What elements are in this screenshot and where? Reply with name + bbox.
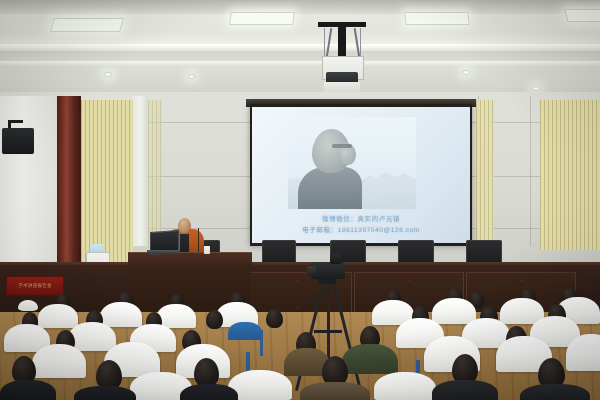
projection-screen: 微博微信：真实的卢元镇 电子邮箱：18611397040@126.com [252, 107, 470, 243]
chair-back-cover [374, 372, 436, 400]
chair-frame-leg [260, 330, 263, 356]
audience-shoulders [300, 382, 370, 400]
event-banner-text: 学术讲座报告会 [18, 283, 52, 289]
camera-lens-icon [307, 266, 316, 276]
downlight-far-right [532, 86, 540, 91]
panel-light-1 [50, 18, 124, 32]
audience-head [266, 309, 283, 328]
tripod-spreader [314, 330, 342, 333]
lecture-hall-photo: 微博微信：真实的卢元镇 电子邮箱：18611397040@126.com 学术讲… [0, 0, 600, 400]
chair-back-cover [32, 344, 86, 378]
slide-text-line-2: 电子邮箱：18611397040@126.com [252, 224, 470, 234]
curtain-right [540, 100, 600, 250]
wall-pier-mid-left [132, 96, 148, 246]
wall-seam-v3 [530, 96, 531, 246]
audience-shoulders [228, 322, 262, 340]
audience-head [194, 358, 219, 387]
video-camera [311, 262, 345, 279]
event-banner: 学术讲座报告会 [6, 276, 64, 296]
projector-lift [318, 22, 366, 94]
curtain-left [81, 100, 133, 265]
cove-light-strip [0, 44, 600, 51]
glasses-icon [332, 144, 352, 148]
curtain-right-inner [476, 100, 494, 250]
slide-text-line-1: 微博微信：真实的卢元镇 [252, 213, 470, 223]
laptop-base [147, 250, 180, 254]
panel-light-4 [564, 9, 600, 22]
downlight-left [104, 72, 112, 77]
audience-cap [18, 300, 38, 311]
projector-chain-left [324, 28, 325, 58]
slide-photograph [288, 117, 416, 209]
panel-light-2 [229, 12, 295, 25]
chair-back-cover [38, 304, 78, 328]
curtain-left-far [148, 100, 162, 248]
cup-icon [204, 246, 210, 254]
projector-lift-arm-left [326, 28, 333, 58]
projector-lift-column [338, 26, 346, 58]
loudspeaker-icon [2, 128, 34, 154]
presenter-head [178, 218, 191, 233]
ceiling-shadow [0, 0, 600, 14]
audience-shoulders [432, 380, 498, 400]
audience-shoulders [520, 384, 590, 400]
wood-column-left [57, 96, 81, 268]
ceiling-band-lower [0, 66, 600, 92]
audience-shoulders [180, 384, 238, 400]
microphone-stand [198, 228, 199, 252]
audience-shoulders [0, 380, 56, 400]
panel-light-3 [404, 12, 469, 25]
downlight-right [462, 70, 470, 75]
chair-back-cover [100, 302, 142, 327]
audience-shoulders [74, 386, 136, 400]
slide-photo-torso [298, 167, 362, 209]
camera-viewfinder [330, 254, 341, 264]
audience-head [206, 310, 223, 329]
audience-shoulders [342, 344, 398, 374]
projector-chain-right [360, 28, 361, 58]
chair-back-cover [432, 298, 476, 324]
ceiling-band-upper [0, 51, 600, 61]
downlight-mid [188, 74, 195, 79]
camera-microphone-icon [336, 249, 340, 256]
